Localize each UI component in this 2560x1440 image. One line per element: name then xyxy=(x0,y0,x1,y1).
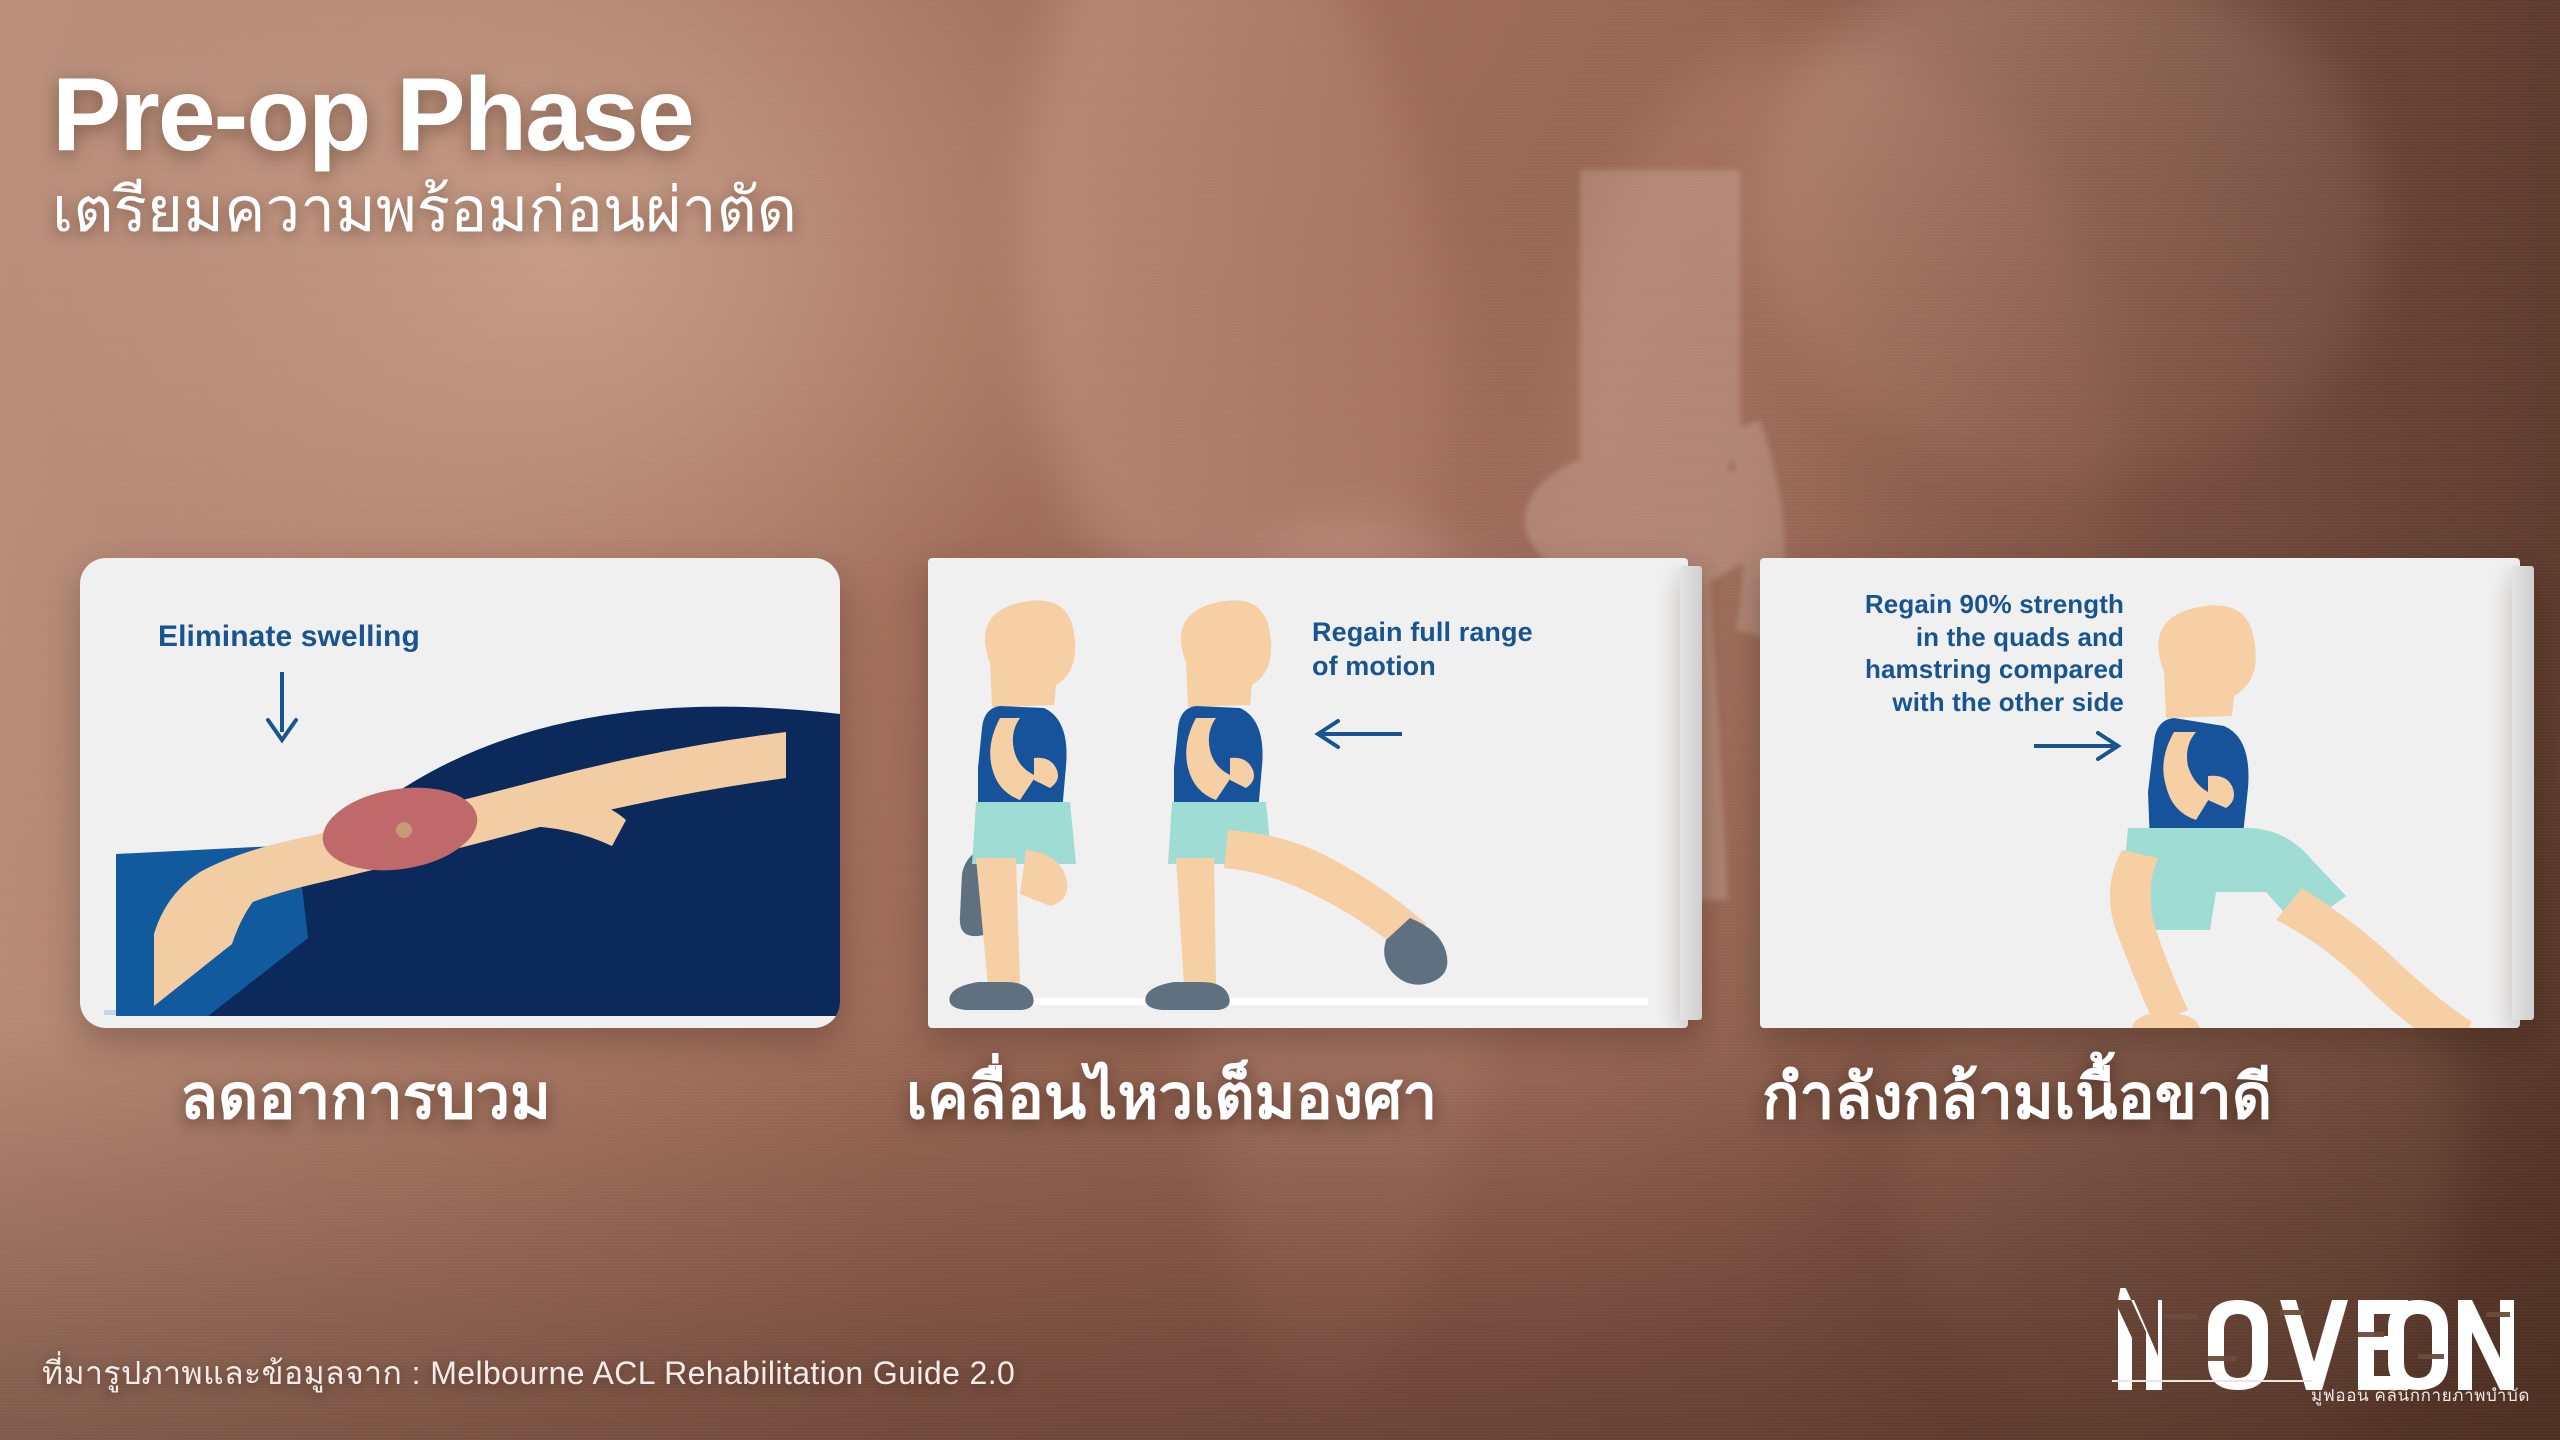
caption-card1: ลดอาการบวม xyxy=(180,1048,551,1146)
card-strength: Regain 90% strength in the quads and ham… xyxy=(1760,558,2520,1028)
page-subtitle: เตรียมความพร้อมก่อนผ่าตัด xyxy=(52,174,797,248)
card3-right-edge xyxy=(2512,566,2534,1020)
figure-knee-flexed xyxy=(949,600,1076,1010)
card-eliminate-swelling: Eliminate swelling xyxy=(80,558,840,1028)
header: Pre-op Phase เตรียมความพร้อมก่อนผ่าตัด xyxy=(52,60,797,249)
cards-row: Eliminate swelling xyxy=(0,558,2560,1028)
figure-knee-extended xyxy=(1145,600,1447,1010)
card3-note-line2: in the quads and xyxy=(1794,621,2124,654)
lunge-figure-illustration xyxy=(2096,562,2516,1028)
card3-note-line3: hamstring compared xyxy=(1794,653,2124,686)
card3-note: Regain 90% strength in the quads and ham… xyxy=(1794,588,2124,718)
card2-right-edge xyxy=(1680,566,1702,1020)
card-surface: Eliminate swelling xyxy=(80,558,840,1028)
card-range-of-motion: Regain full range of motion xyxy=(928,558,1688,1028)
caption-card2: เคลื่อนไหวเต็มองศา xyxy=(906,1048,1437,1146)
logo-tagline: มูฟออน คลินิกกายภาพบำบัด xyxy=(2311,1382,2530,1409)
card3-note-line4: with the other side xyxy=(1794,686,2124,719)
knee-flexion-figures-illustration xyxy=(928,558,1688,1028)
leg-elevation-illustration xyxy=(80,686,840,1028)
caption-card3: กำลังกล้ามเนื้อขาดี xyxy=(1762,1048,2272,1146)
logo-divider xyxy=(2112,1380,2312,1382)
page-title: Pre-op Phase xyxy=(52,60,797,170)
card1-note: Eliminate swelling xyxy=(158,618,420,656)
card3-note-line1: Regain 90% strength xyxy=(1794,588,2124,621)
card-surface: Regain full range of motion xyxy=(928,558,1688,1028)
source-credit: ที่มารูปภาพและข้อมูลจาก : Melbourne ACL … xyxy=(42,1348,1015,1399)
card-surface: Regain 90% strength in the quads and ham… xyxy=(1760,558,2520,1028)
